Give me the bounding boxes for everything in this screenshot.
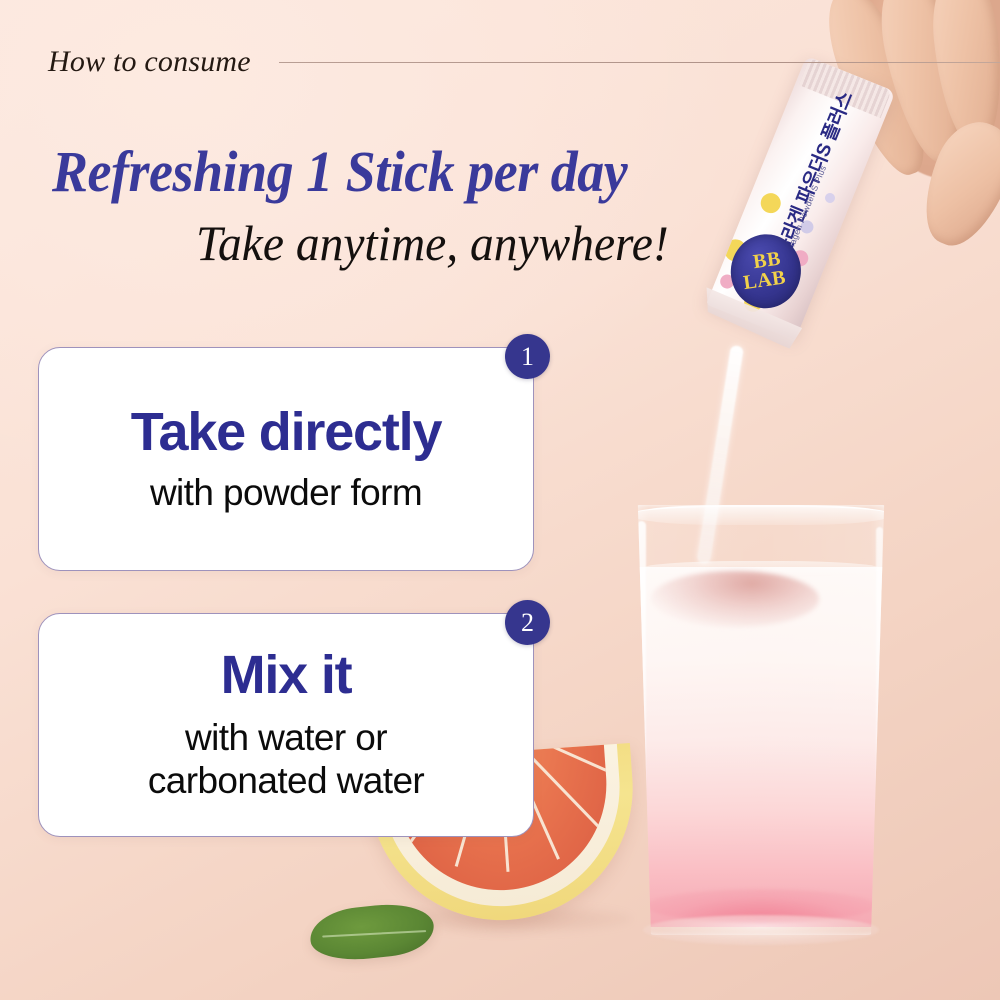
water-glass — [630, 505, 892, 935]
section-header: How to consume — [48, 34, 1000, 90]
step-card-title: Take directly — [131, 404, 442, 461]
powder-plume-in-water — [651, 571, 819, 627]
confetti-dot-yellow-1 — [758, 190, 784, 216]
stick-body: 더 콜라겐 파우더S 플러스 The Collagen Powder S Plu… — [706, 56, 895, 340]
step-card-title: Mix it — [221, 647, 352, 704]
step-badge-2: 2 — [505, 600, 550, 645]
step-card-subtitle: with powder form — [150, 471, 422, 515]
step-card-take-directly[interactable]: Take directly with powder form — [38, 347, 534, 571]
step-card-subtitle: with water or carbonated water — [148, 716, 424, 803]
header-divider-rule — [279, 62, 1000, 63]
page-headline: Refreshing 1 Stick per day — [52, 142, 627, 203]
leaf-midrib — [323, 930, 427, 937]
page-subheadline: Take anytime, anywhere! — [196, 216, 669, 271]
glass-highlight-left — [637, 521, 646, 917]
promo-image-canvas: 더 콜라겐 파우더S 플러스 The Collagen Powder S Plu… — [0, 0, 1000, 1000]
green-leaf — [308, 900, 437, 965]
step-badge-1: 1 — [505, 334, 550, 379]
product-stick-sachet: 더 콜라겐 파우더S 플러스 The Collagen Powder S Plu… — [694, 56, 916, 378]
bb-lab-logo-line-2: LAB — [742, 268, 787, 293]
section-eyebrow-label: How to consume — [48, 45, 251, 79]
confetti-dot-lavender-2 — [823, 191, 836, 204]
glass-base — [643, 915, 879, 945]
glass-highlight-right — [876, 527, 883, 911]
glass-rim — [630, 505, 892, 525]
step-card-mix-it[interactable]: Mix it with water or carbonated water — [38, 613, 534, 837]
